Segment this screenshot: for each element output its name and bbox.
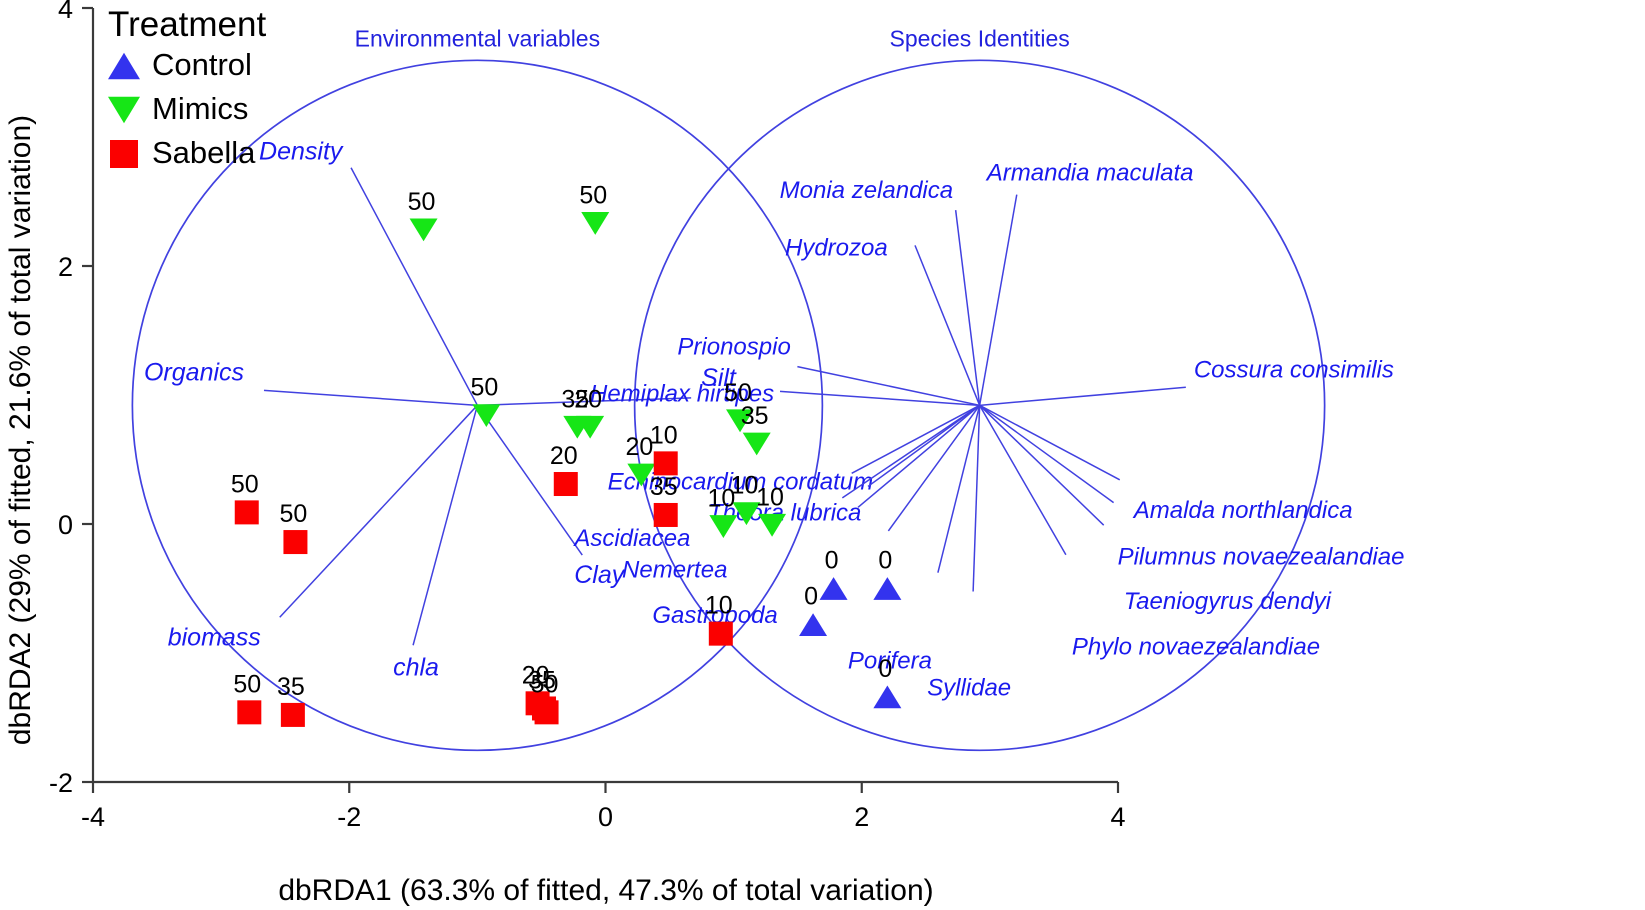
environmental-vector-line <box>413 405 477 645</box>
legend-marker-control <box>108 53 140 80</box>
legend-label-sabella: Sabella <box>152 135 256 170</box>
data-point-label: 50 <box>231 470 259 498</box>
species-vector-line <box>852 405 980 473</box>
data-point-marker <box>709 622 733 646</box>
environmental-vector-label: chla <box>393 653 439 681</box>
data-point-label: 50 <box>531 670 559 698</box>
y-tick-label: 4 <box>58 0 73 24</box>
data-point-marker <box>820 577 848 600</box>
data-point-label: 10 <box>705 592 733 620</box>
y-tick-label: 2 <box>58 252 73 282</box>
data-point-label: 10 <box>650 421 678 449</box>
data-point-label: 0 <box>878 547 892 575</box>
data-point-label: 0 <box>825 547 839 575</box>
y-tick-label: 0 <box>58 510 73 540</box>
data-point-label: 50 <box>579 181 607 209</box>
data-point-label: 10 <box>707 485 735 513</box>
species-vector-label: Armandia maculata <box>985 160 1194 187</box>
data-point-label: 0 <box>878 655 892 683</box>
plot-svg: -4-2024-2024 Environmental variablesSpec… <box>0 0 1645 910</box>
environmental-vector-line <box>280 405 478 617</box>
data-point-label: 35 <box>650 473 678 501</box>
data-point-marker <box>554 472 578 496</box>
data-point-marker <box>235 500 259 524</box>
x-tick-label: -4 <box>81 802 105 832</box>
species-vector-label: Syllidae <box>927 675 1011 702</box>
data-point-label: 20 <box>574 385 602 413</box>
data-point-marker <box>873 577 901 600</box>
data-point-label: 50 <box>280 500 308 528</box>
species-vector-line <box>858 405 980 507</box>
environmental-vector-line <box>264 390 477 405</box>
legend-group: TreatmentControlMimicsSabella <box>108 5 266 170</box>
species-vector-label: Cossura consimilis <box>1194 356 1394 383</box>
legend-label-control: Control <box>152 47 252 82</box>
data-point-marker <box>581 212 609 235</box>
species-vector-label: Monia zelandica <box>780 177 953 204</box>
species-vector-label: Prionospio <box>677 334 790 361</box>
data-point-label: 35 <box>277 673 305 701</box>
data-point-label: 0 <box>804 583 818 611</box>
species-vector-line <box>973 405 980 591</box>
legend-label-mimics: Mimics <box>152 91 248 126</box>
x-tick-label: 2 <box>854 802 869 832</box>
y-tick-label: -2 <box>49 768 73 798</box>
species-vector-line <box>980 405 1114 502</box>
x-tick-label: 4 <box>1110 802 1125 832</box>
data-point-marker <box>237 700 261 724</box>
data-point-marker <box>709 515 737 538</box>
environmental-panel-title: Environmental variables <box>355 25 600 51</box>
species-vector-line <box>980 387 1186 405</box>
data-point-label: 50 <box>470 374 498 402</box>
data-points-group: 0000505050352020503510101050502010351050… <box>231 181 902 726</box>
data-point-label: 35 <box>741 402 769 430</box>
species-vector-label: Pilumnus novaezealandiae <box>1118 544 1405 571</box>
data-point-label: 10 <box>756 483 784 511</box>
environmental-vector-label: Clay <box>574 561 626 589</box>
x-tick-label: 0 <box>598 802 613 832</box>
data-point-marker <box>535 700 559 724</box>
data-point-marker <box>281 703 305 727</box>
environmental-vector-label: Density <box>259 138 344 166</box>
species-panel-title: Species Identities <box>889 25 1069 51</box>
species-vector-line <box>980 195 1017 406</box>
data-point-marker <box>654 451 678 475</box>
data-point-marker <box>654 503 678 527</box>
data-point-marker <box>283 530 307 554</box>
data-point-marker <box>873 685 901 708</box>
series-control: 0000 <box>799 547 901 709</box>
species-vector-label: Ascidiacea <box>572 525 690 552</box>
species-vector-line <box>980 405 1104 525</box>
environmental-vector-label: Organics <box>144 358 244 386</box>
data-point-marker <box>799 613 827 636</box>
species-vectors-group: Armandia maculataMonia zelandicaHydrozoa… <box>572 160 1404 702</box>
legend-marker-mimics <box>108 97 140 124</box>
species-vector-label: Amalda northlandica <box>1132 497 1353 524</box>
data-point-marker <box>472 404 500 427</box>
data-point-label: 20 <box>550 442 578 470</box>
environmental-vectors-group: DensityOrganicsSiltClaychlabiomass <box>144 138 737 682</box>
species-vector-label: Hydrozoa <box>785 234 888 261</box>
species-vector-label: Nemertea <box>622 556 727 583</box>
data-point-marker <box>410 218 438 241</box>
species-vector-line <box>842 405 979 498</box>
x-axis-title: dbRDA1 (63.3% of fitted, 47.3% of total … <box>278 874 933 907</box>
data-point-marker <box>743 433 771 456</box>
y-axis-title: dbRDA2 (29% of fitted, 21.6% of total va… <box>4 115 37 745</box>
data-point-label: 50 <box>233 670 261 698</box>
species-vector-label: Taeniogyrus dendyi <box>1124 588 1332 615</box>
x-tick-label: -2 <box>337 802 361 832</box>
dbrda-ordination-chart: -4-2024-2024 Environmental variablesSpec… <box>0 0 1645 910</box>
species-vector-line <box>888 405 979 531</box>
legend-title: Treatment <box>108 5 266 44</box>
legend-marker-sabella <box>110 140 138 168</box>
environmental-vector-label: biomass <box>168 623 261 651</box>
data-point-label: 50 <box>408 188 436 216</box>
species-vector-label: Phylo novaezealandiae <box>1072 634 1320 661</box>
